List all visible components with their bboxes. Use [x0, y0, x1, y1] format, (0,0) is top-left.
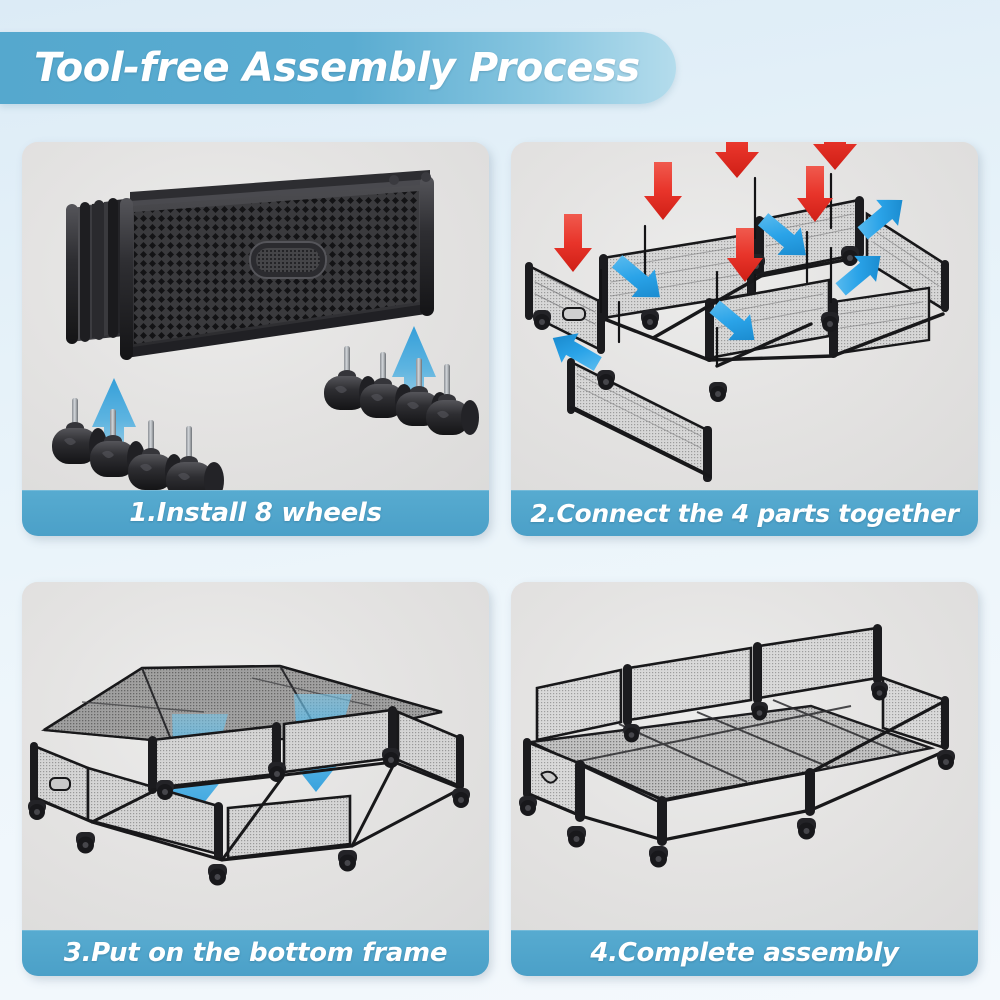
- step-1-caption-bar: 1.Install 8 wheels: [22, 490, 489, 536]
- completed-storage-cart-graphic: [511, 582, 978, 930]
- step-3-caption: 3.Put on the bottom frame: [64, 938, 447, 968]
- panel-lower-right: [829, 288, 929, 358]
- step-2-caption: 2.Connect the 4 parts together: [530, 499, 959, 528]
- four-mesh-panels-being-joined-graphic: [511, 142, 978, 490]
- assembly-steps-grid: 1.Install 8 wheels: [22, 142, 978, 976]
- caster-wheel-group-left: [52, 398, 224, 490]
- bottom-mesh-frame-lowering-graphic: [22, 582, 489, 930]
- right-end-wall-step3: [398, 712, 464, 790]
- step-card-4[interactable]: 4.Complete assembly: [511, 582, 978, 976]
- step-3-illustration: [22, 582, 489, 930]
- header-banner: Tool-free Assembly Process: [0, 32, 676, 104]
- page-title: Tool-free Assembly Process: [34, 45, 640, 91]
- step-1-caption: 1.Install 8 wheels: [129, 498, 381, 528]
- panel-front-left: [567, 358, 712, 482]
- step-card-1[interactable]: 1.Install 8 wheels: [22, 142, 489, 536]
- step-card-2[interactable]: 2.Connect the 4 parts together: [511, 142, 978, 536]
- step-4-caption-bar: 4.Complete assembly: [511, 930, 978, 976]
- step-2-illustration: [511, 142, 978, 490]
- step-3-caption-bar: 3.Put on the bottom frame: [22, 930, 489, 976]
- step-2-caption-bar: 2.Connect the 4 parts together: [511, 490, 978, 536]
- step-4-caption: 4.Complete assembly: [590, 938, 898, 968]
- step-4-illustration: [511, 582, 978, 930]
- step-1-illustration: [22, 142, 489, 490]
- stacked-mesh-panels-with-caster-wheels-graphic: [22, 142, 489, 490]
- step-card-3[interactable]: 3.Put on the bottom frame: [22, 582, 489, 976]
- front-mesh-panel: [120, 170, 434, 360]
- panel-handle: [250, 242, 326, 278]
